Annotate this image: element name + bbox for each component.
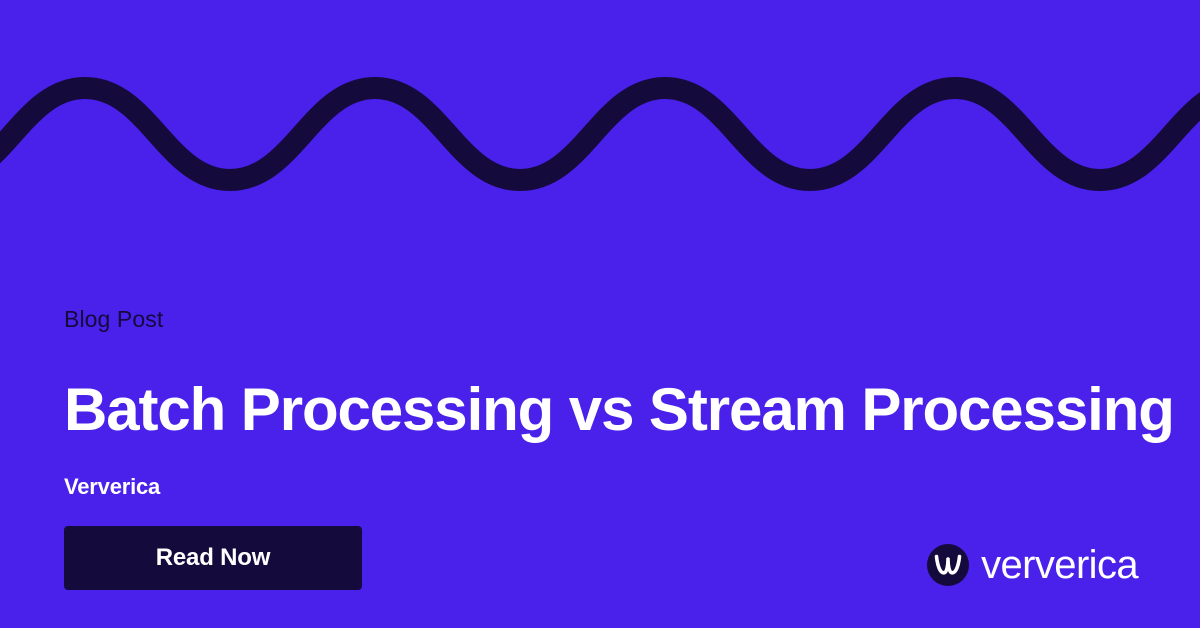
ververica-wordmark: ververica	[981, 544, 1138, 586]
author-byline: Ververica	[64, 474, 1154, 500]
brand-lockup: ververica	[927, 544, 1138, 586]
blog-post-social-card: Blog Post Batch Processing vs Stream Pro…	[0, 0, 1200, 628]
ververica-logo-mark-icon	[927, 544, 969, 586]
content-type-eyebrow: Blog Post	[64, 305, 1154, 333]
page-title: Batch Processing vs Stream Processing	[64, 378, 1154, 442]
wave-path	[0, 88, 1200, 180]
read-now-button[interactable]: Read Now	[64, 526, 362, 590]
wave-decoration	[0, 0, 1200, 230]
read-now-button-label: Read Now	[156, 544, 270, 572]
